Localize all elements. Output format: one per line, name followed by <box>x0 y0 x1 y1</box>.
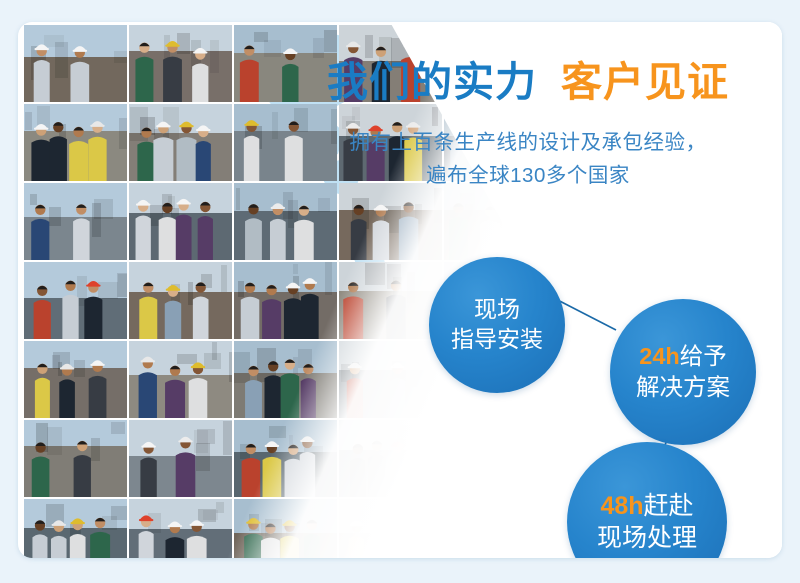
service-circle-24h-solution[interactable]: 24h给予 解决方案 <box>610 299 756 445</box>
mosaic-photo <box>339 420 442 497</box>
circle1-line1: 现场 <box>474 295 520 325</box>
page-title: 我们的实力客户见证 <box>278 60 778 106</box>
mosaic-photo <box>234 262 337 339</box>
title-primary: 我们的实力 <box>327 59 537 105</box>
subtitle-line-2: 遍布全球130多个国家 <box>278 159 778 192</box>
circle1-line2: 指导安装 <box>451 325 543 355</box>
mosaic-photo <box>24 262 127 339</box>
mosaic-photo <box>234 183 337 260</box>
mosaic-photo <box>444 420 547 497</box>
mosaic-photo <box>339 341 442 418</box>
mosaic-photo <box>129 420 232 497</box>
circle2-line1: 24h给予 <box>639 341 727 372</box>
mosaic-photo <box>234 341 337 418</box>
circle3-highlight: 48h <box>600 492 643 520</box>
circle2-highlight: 24h <box>639 343 680 369</box>
mosaic-photo <box>24 183 127 260</box>
mosaic-photo <box>24 499 127 558</box>
content-card: 我们的实力客户见证 拥有上百条生产线的设计及承包经验， 遍布全球130多个国家 … <box>18 22 782 558</box>
mosaic-photo <box>339 262 442 339</box>
title-accent: 客户见证 <box>561 59 729 105</box>
mosaic-photo <box>129 104 232 181</box>
mosaic-photo <box>339 183 442 260</box>
circle2-line2: 解决方案 <box>636 372 730 403</box>
circle2-rest: 给予 <box>680 343 727 369</box>
mosaic-photo <box>339 499 442 558</box>
mosaic-photo <box>444 499 547 558</box>
mosaic-photo <box>234 420 337 497</box>
mosaic-photo <box>24 104 127 181</box>
banner-stage: 我们的实力客户见证 拥有上百条生产线的设计及承包经验， 遍布全球130多个国家 … <box>0 0 800 583</box>
circle3-line1: 48h赶赴 <box>600 490 693 523</box>
mosaic-photo <box>24 25 127 102</box>
mosaic-photo <box>234 499 337 558</box>
service-circle-onsite-installation[interactable]: 现场 指导安装 <box>429 257 565 393</box>
circle3-rest: 赶赴 <box>644 492 694 520</box>
mosaic-photo <box>129 183 232 260</box>
mosaic-photo <box>24 341 127 418</box>
mosaic-photo <box>129 262 232 339</box>
mosaic-photo <box>129 341 232 418</box>
page-subtitle: 拥有上百条生产线的设计及承包经验， 遍布全球130多个国家 <box>278 126 778 192</box>
mosaic-photo <box>24 420 127 497</box>
circle3-line2: 现场处理 <box>597 522 697 555</box>
heading-block: 我们的实力客户见证 拥有上百条生产线的设计及承包经验， 遍布全球130多个国家 <box>278 60 778 192</box>
mosaic-photo <box>129 25 232 102</box>
subtitle-line-1: 拥有上百条生产线的设计及承包经验， <box>278 126 778 159</box>
mosaic-photo <box>129 499 232 558</box>
